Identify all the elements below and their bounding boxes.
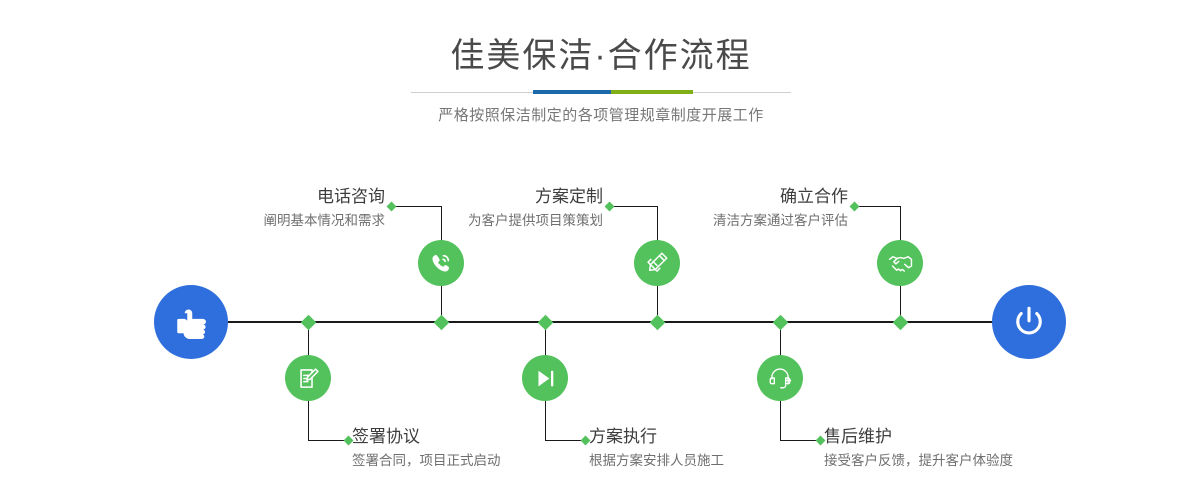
headset-add-icon (767, 365, 793, 391)
connector-hline-step2 (308, 440, 348, 441)
step-icon-establish-cooperation (877, 240, 923, 286)
phone-ring-icon (428, 250, 454, 276)
step-desc: 阐明基本情况和需求 (175, 211, 385, 231)
step-desc: 为客户提供项目策策划 (395, 211, 603, 231)
axis-diamond-3 (538, 315, 554, 331)
step-label-after-sales: 售后维护 接受客户反馈，提升客户体验度 (824, 426, 1114, 471)
timeline-end-node (992, 285, 1066, 359)
step-icon-plan-execution (522, 355, 568, 401)
play-execute-icon (533, 366, 558, 391)
step-icon-sign-agreement (285, 355, 331, 401)
cooperation-process-infographic: 佳美保洁·合作流程 严格按照保洁制定的各项管理规章制度开展工作 (0, 0, 1202, 502)
step-title: 方案执行 (589, 426, 839, 448)
axis-diamond-5 (773, 315, 789, 331)
pointing-hand-icon (171, 302, 211, 342)
process-timeline: 电话咨询 阐明基本情况和需求 签署协议 签署合同，项目正式启动 (0, 0, 1202, 502)
axis-diamond-6 (893, 315, 909, 331)
step-title: 售后维护 (824, 426, 1114, 448)
axis-diamond-4 (650, 315, 666, 331)
step-icon-phone-consultation (418, 240, 464, 286)
step-icon-after-sales (757, 355, 803, 401)
step-label-sign-agreement: 签署协议 签署合同，项目正式启动 (352, 426, 612, 471)
step-label-phone-consultation: 电话咨询 阐明基本情况和需求 (175, 186, 385, 231)
handshake-icon (887, 250, 914, 277)
step-title: 签署协议 (352, 426, 612, 448)
step-icon-plan-customization (634, 240, 680, 286)
timeline-start-node (154, 285, 228, 359)
pencil-ruler-icon (644, 250, 670, 276)
power-icon (1009, 302, 1049, 342)
connector-hline-step5 (855, 206, 901, 207)
step-label-establish-cooperation: 确立合作 清洁方案通过客户评估 (640, 186, 848, 231)
step-desc: 清洁方案通过客户评估 (640, 211, 848, 231)
step-title: 确立合作 (640, 186, 848, 208)
step-title: 方案定制 (395, 186, 603, 208)
step-desc: 签署合同，项目正式启动 (352, 451, 612, 471)
step-desc: 根据方案安排人员施工 (589, 451, 839, 471)
label-diamond-step5 (850, 202, 860, 212)
step-label-plan-customization: 方案定制 为客户提供项目策策划 (395, 186, 603, 231)
label-diamond-step3 (605, 202, 615, 212)
step-desc: 接受客户反馈，提升客户体验度 (824, 451, 1114, 471)
step-title: 电话咨询 (175, 186, 385, 208)
axis-diamond-1 (301, 315, 317, 331)
step-label-plan-execution: 方案执行 根据方案安排人员施工 (589, 426, 839, 471)
document-edit-icon (296, 366, 321, 391)
axis-diamond-2 (434, 315, 450, 331)
